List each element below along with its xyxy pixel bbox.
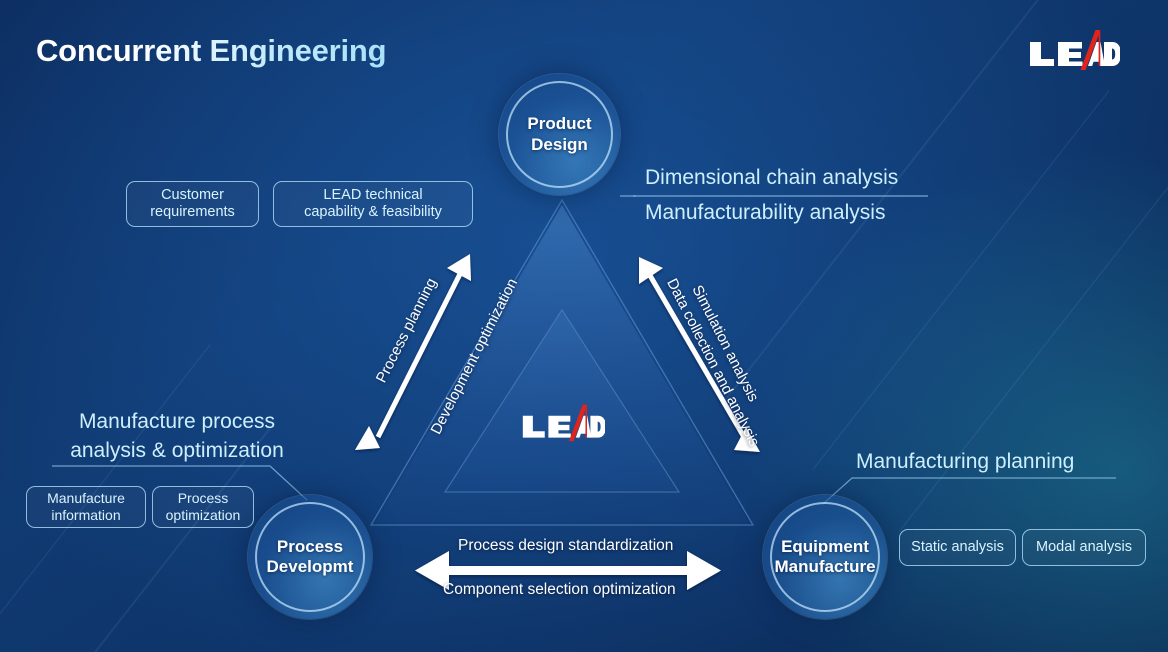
left-diagonal-arrow	[355, 254, 471, 450]
callout-line-manufacture-process: Manufacture process	[52, 410, 302, 435]
node-label: Process Developmt	[267, 537, 354, 577]
pill-manufacture-information[interactable]: Manufacture information	[26, 486, 146, 528]
arrow-label-development-optimization: Development optimization	[428, 276, 522, 438]
page-title: Concurrent Engineering	[36, 33, 386, 69]
pill-line2: information	[47, 507, 125, 524]
slide-canvas: Concurrent Engineering	[0, 0, 1168, 652]
callout-line-manufacturing-planning: Manufacturing planning	[856, 450, 1074, 475]
pill-line1: Customer	[150, 187, 235, 204]
node-product-design[interactable]: Product Design	[499, 74, 620, 195]
pill-line1: Manufacture	[47, 490, 125, 507]
node-label-line2: Developmt	[267, 557, 354, 577]
node-process-development[interactable]: Process Developmt	[248, 495, 372, 619]
pill-process-optimization[interactable]: Process optimization	[152, 486, 254, 528]
node-label-line1: Equipment	[774, 537, 875, 557]
pill-line1: LEAD technical	[304, 187, 442, 204]
arrow-label-component-selection-optimization: Component selection optimization	[443, 581, 676, 599]
callout-line-analysis-optimization: analysis & optimization	[52, 439, 302, 464]
node-label-line1: Process	[267, 537, 354, 557]
bg-streak-2	[812, 90, 1109, 469]
node-label: Equipment Manufacture	[774, 537, 875, 577]
callout-line-manufacturability: Manufacturability analysis	[645, 201, 898, 226]
node-label: Product Design	[527, 114, 591, 154]
bg-streak-5	[899, 168, 1168, 532]
pill-line2: capability & feasibility	[304, 204, 442, 221]
arrow-label-process-planning: Process planning	[373, 275, 440, 385]
pill-line2: requirements	[150, 204, 235, 221]
callout-top-right: Dimensional chain analysis Manufacturabi…	[645, 166, 898, 226]
center-brand-logo	[521, 399, 605, 447]
pill-line1: Modal analysis	[1036, 539, 1132, 556]
pill-static-analysis[interactable]: Static analysis	[899, 529, 1016, 566]
node-label-line2: Manufacture	[774, 557, 875, 577]
arrow-label-process-design-standardization: Process design standardization	[458, 537, 673, 555]
outer-triangle	[371, 200, 753, 525]
node-label-line1: Product	[527, 114, 591, 134]
pill-line1: Process	[166, 490, 241, 507]
node-equipment-manufacture[interactable]: Equipment Manufacture	[763, 495, 887, 619]
node-label-line2: Design	[527, 135, 591, 155]
pill-modal-analysis[interactable]: Modal analysis	[1022, 529, 1146, 566]
callout-connector-right	[823, 478, 1116, 504]
pill-lead-technical-capability[interactable]: LEAD technical capability & feasibility	[273, 181, 473, 227]
brand-logo	[1028, 28, 1120, 72]
pill-line1: Static analysis	[911, 539, 1004, 556]
mid-triangle	[376, 205, 748, 522]
pill-line2: optimization	[166, 507, 241, 524]
callout-bottom-right: Manufacturing planning	[856, 450, 1074, 475]
pill-customer-requirements[interactable]: Customer requirements	[126, 181, 259, 227]
callout-bottom-left: Manufacture process analysis & optimizat…	[52, 410, 302, 464]
callout-line-dimensional-chain: Dimensional chain analysis	[645, 166, 898, 191]
